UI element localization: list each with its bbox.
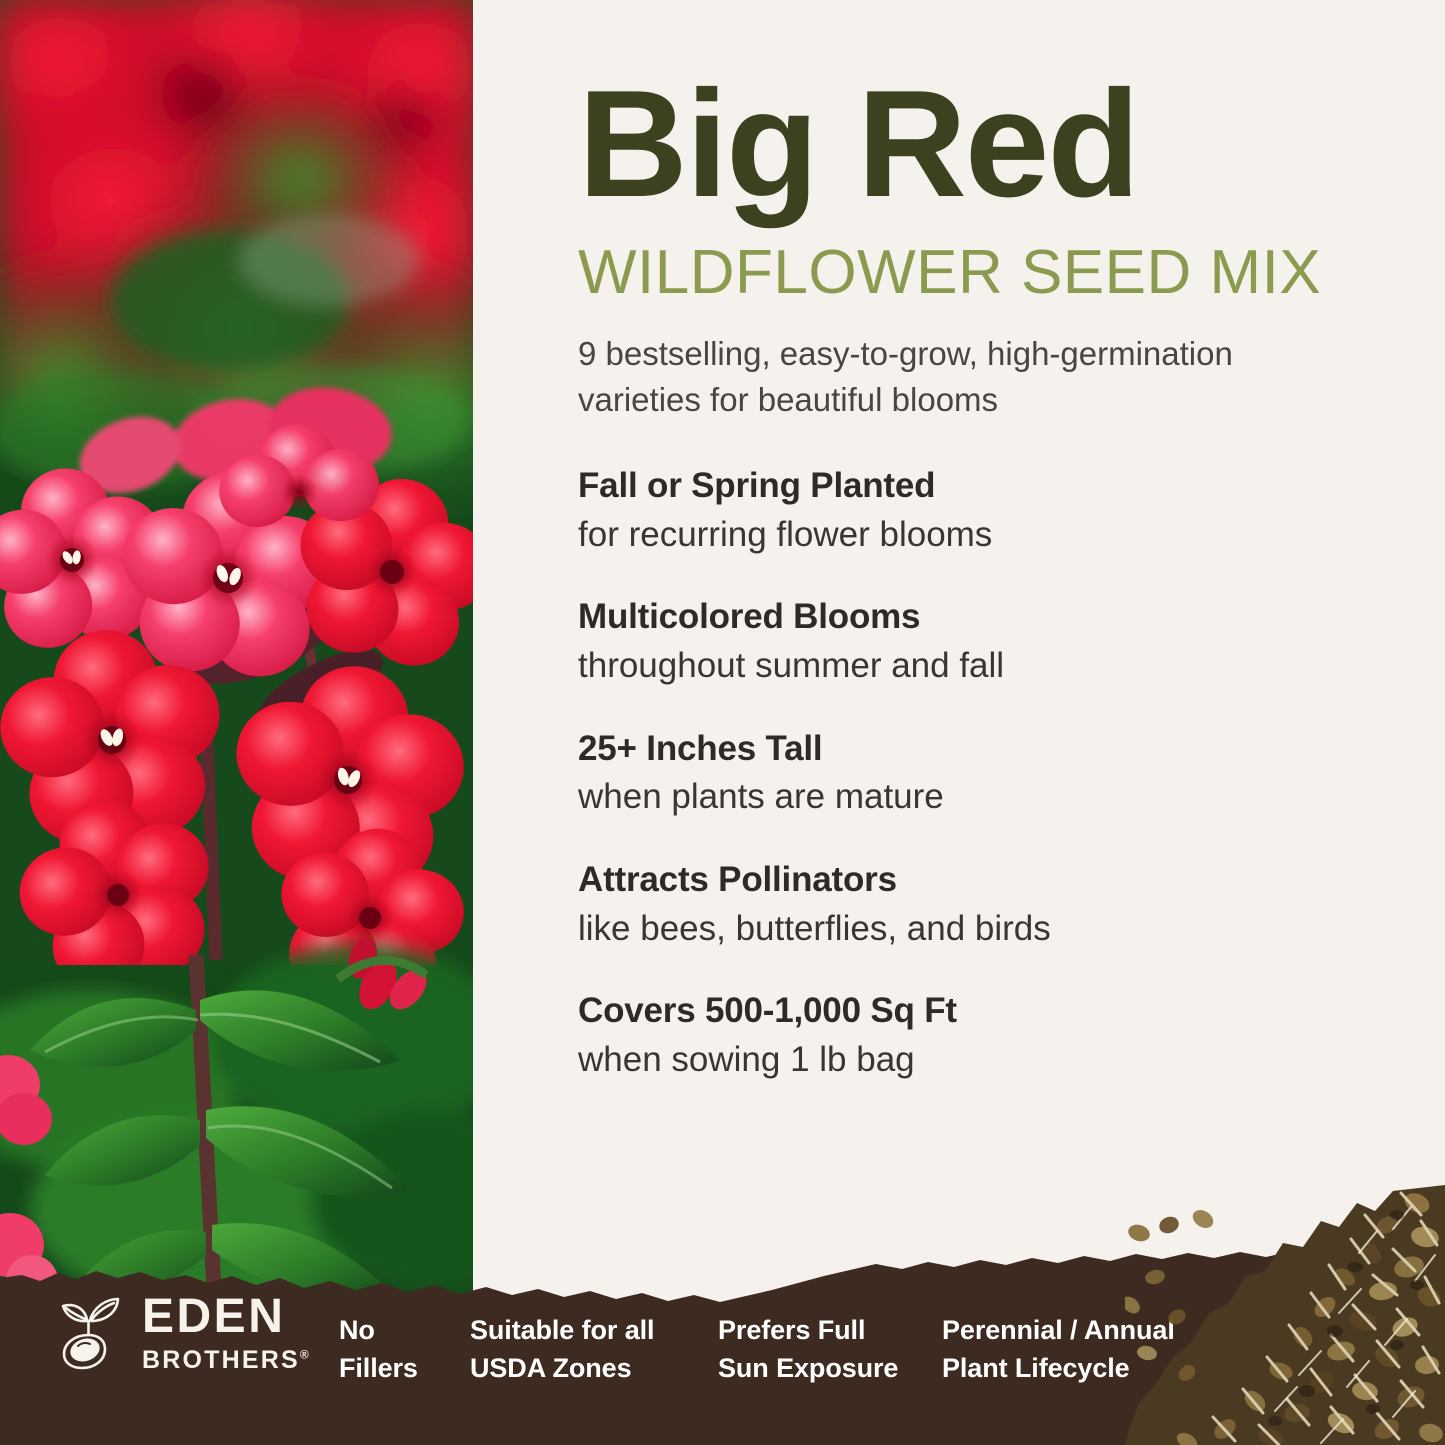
logo-brothers-text: BROTHERS®	[142, 1348, 309, 1373]
feature-subtext: throughout summer and fall	[578, 643, 1368, 689]
badge-line-1: Suitable for all	[470, 1311, 654, 1349]
registered-trademark-icon: ®	[300, 1348, 309, 1362]
logo-eden-text: EDEN	[142, 1290, 285, 1343]
seed-sprout-icon	[54, 1294, 128, 1372]
feature-heading: Attracts Pollinators	[578, 858, 1368, 902]
feature-item: Attracts Pollinators like bees, butterfl…	[578, 858, 1368, 951]
footer-content: EDEN BROTHERS® No Fillers Suitable for a…	[0, 1245, 1445, 1445]
page-title: Big Red	[578, 72, 1368, 218]
hero-photo	[0, 0, 473, 1310]
badge-line-1: Prefers Full	[718, 1311, 898, 1349]
eden-brothers-logo[interactable]: EDEN BROTHERS®	[54, 1293, 309, 1373]
feature-heading: 25+ Inches Tall	[578, 727, 1368, 771]
badge-line-2: Sun Exposure	[718, 1349, 898, 1387]
product-description: 9 bestselling, easy-to-grow, high-germin…	[578, 331, 1308, 422]
feature-heading: Fall or Spring Planted	[578, 464, 1368, 508]
feature-subtext: like bees, butterflies, and birds	[578, 906, 1368, 952]
feature-item: Multicolored Blooms throughout summer an…	[578, 595, 1368, 688]
badge-line-1: Perennial / Annual	[942, 1311, 1175, 1349]
badge-line-2: Plant Lifecycle	[942, 1349, 1175, 1387]
feature-heading: Multicolored Blooms	[578, 595, 1368, 639]
badge-line-2: USDA Zones	[470, 1349, 654, 1387]
feature-item: 25+ Inches Tall when plants are mature	[578, 727, 1368, 820]
footer-badge-no-fillers: No Fillers	[339, 1311, 418, 1388]
logo-wordmark: EDEN BROTHERS®	[142, 1293, 309, 1373]
feature-item: Fall or Spring Planted for recurring flo…	[578, 464, 1368, 557]
badge-line-2: Fillers	[339, 1349, 418, 1387]
feature-item: Covers 500-1,000 Sq Ft when sowing 1 lb …	[578, 989, 1368, 1082]
footer-badge-sun-exposure: Prefers Full Sun Exposure	[718, 1311, 898, 1388]
badge-line-1: No	[339, 1311, 418, 1349]
footer-badge-plant-lifecycle: Perennial / Annual Plant Lifecycle	[942, 1311, 1175, 1388]
footer-band: EDEN BROTHERS® No Fillers Suitable for a…	[0, 1245, 1445, 1445]
content-column: Big Red WILDFLOWER SEED MIX 9 bestsellin…	[578, 0, 1368, 1260]
feature-subtext: when plants are mature	[578, 774, 1368, 820]
product-feature-card: Big Red WILDFLOWER SEED MIX 9 bestsellin…	[0, 0, 1445, 1445]
feature-heading: Covers 500-1,000 Sq Ft	[578, 989, 1368, 1033]
footer-badge-usda-zones: Suitable for all USDA Zones	[470, 1311, 654, 1388]
feature-subtext: for recurring flower blooms	[578, 512, 1368, 558]
feature-subtext: when sowing 1 lb bag	[578, 1037, 1368, 1083]
feature-list: Fall or Spring Planted for recurring flo…	[578, 464, 1368, 1082]
product-subtitle: WILDFLOWER SEED MIX	[578, 240, 1368, 305]
